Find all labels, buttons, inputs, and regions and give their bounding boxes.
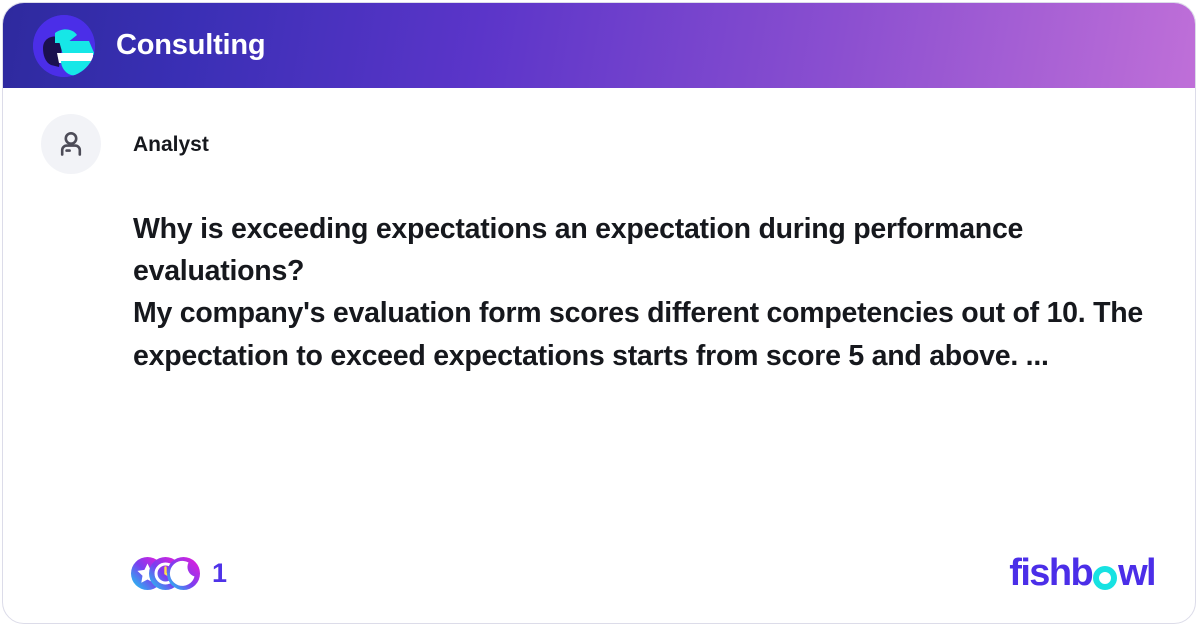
fishbowl-logo-icon (33, 15, 95, 77)
card-footer: 1 fishb wl (3, 523, 1195, 623)
reaction-moon-icon[interactable] (167, 557, 200, 590)
wordmark-o-icon (1093, 566, 1117, 590)
bowl-name-title: Consulting (116, 31, 265, 60)
author-row: Analyst (3, 88, 1195, 174)
person-icon (56, 129, 86, 159)
card-body: Analyst Why is exceeding expectations an… (3, 88, 1195, 377)
fishbowl-wordmark: fishb wl (1009, 554, 1155, 592)
card-header: Consulting (3, 3, 1195, 88)
reactions-group[interactable]: 1 (131, 557, 227, 590)
post-body: My company's evaluation form scores diff… (133, 292, 1153, 376)
wordmark-text-after: wl (1118, 554, 1155, 592)
reaction-count: 1 (212, 560, 227, 587)
post-content: Why is exceeding expectations an expecta… (133, 208, 1153, 377)
reaction-icon-stack[interactable] (131, 557, 200, 590)
post-title: Why is exceeding expectations an expecta… (133, 208, 1153, 292)
post-card: Consulting Analyst Why is exceeding expe… (2, 2, 1196, 624)
avatar (41, 114, 101, 174)
author-name: Analyst (133, 134, 209, 155)
wordmark-text-before: fishb (1009, 554, 1092, 592)
